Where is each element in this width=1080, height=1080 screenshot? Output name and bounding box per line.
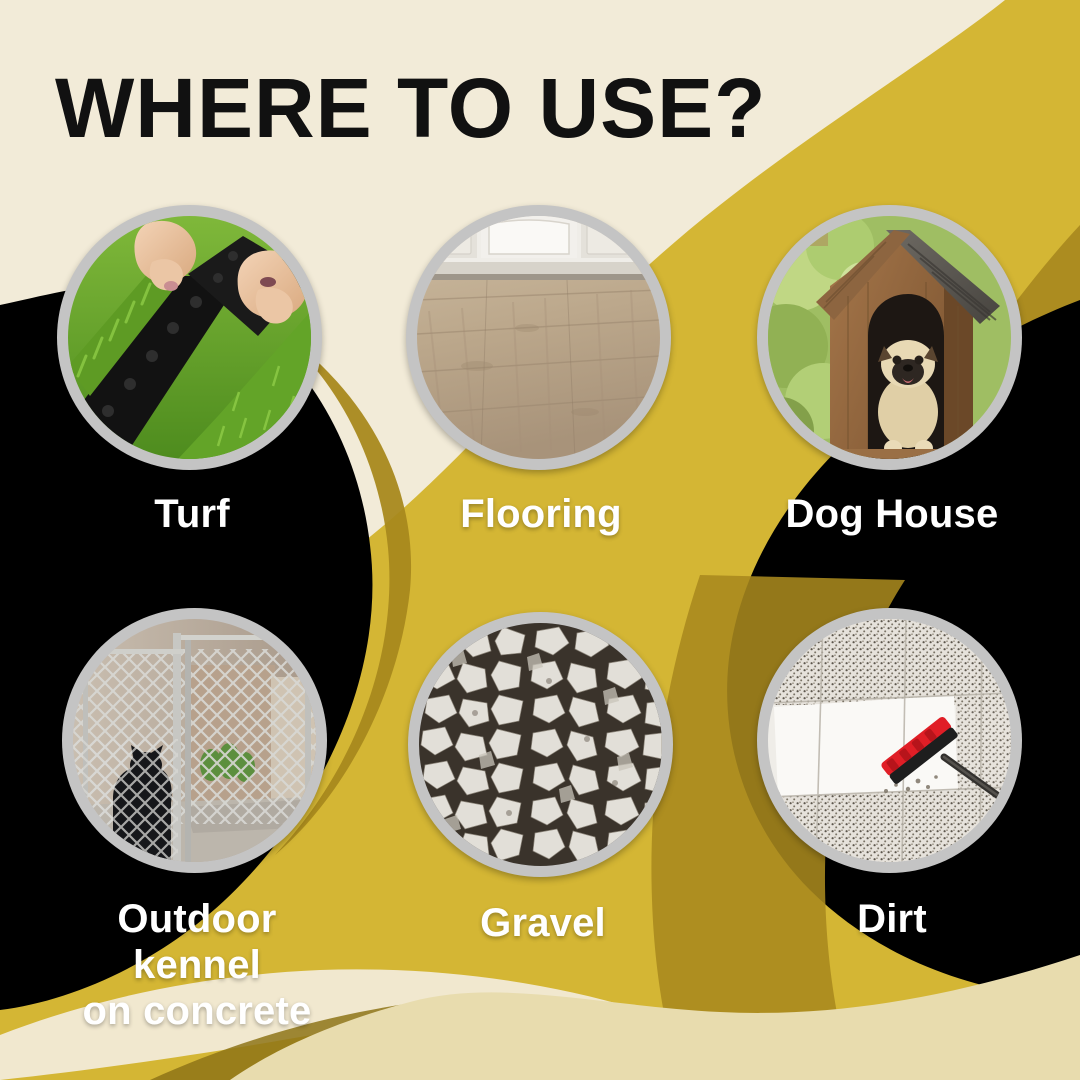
circle-frame-flooring <box>406 205 671 470</box>
label-flooring: Flooring <box>406 491 676 537</box>
label-gravel: Gravel <box>408 900 678 946</box>
page-title: WHERE TO USE? <box>55 66 767 150</box>
circle-frame-dirt <box>757 608 1022 873</box>
label-outdoor-kennel: Outdoor kennel on concrete <box>62 896 332 1034</box>
circle-frame-gravel <box>408 612 673 877</box>
dirt-sweeping-photo <box>768 619 1011 862</box>
gravel-photo <box>419 623 662 866</box>
infographic-canvas: WHERE TO USE? <box>0 0 1080 1080</box>
circle-frame-dog-house <box>757 205 1022 470</box>
dog-house-photo <box>768 216 1011 459</box>
label-dirt: Dirt <box>757 896 1027 942</box>
circle-frame-turf <box>57 205 322 470</box>
label-turf: Turf <box>57 491 327 537</box>
turf-installation-photo <box>68 216 311 459</box>
circle-frame-outdoor-kennel <box>62 608 327 873</box>
outdoor-kennel-photo <box>73 619 316 862</box>
wood-flooring-photo <box>417 216 660 459</box>
label-dog-house: Dog House <box>757 491 1027 537</box>
